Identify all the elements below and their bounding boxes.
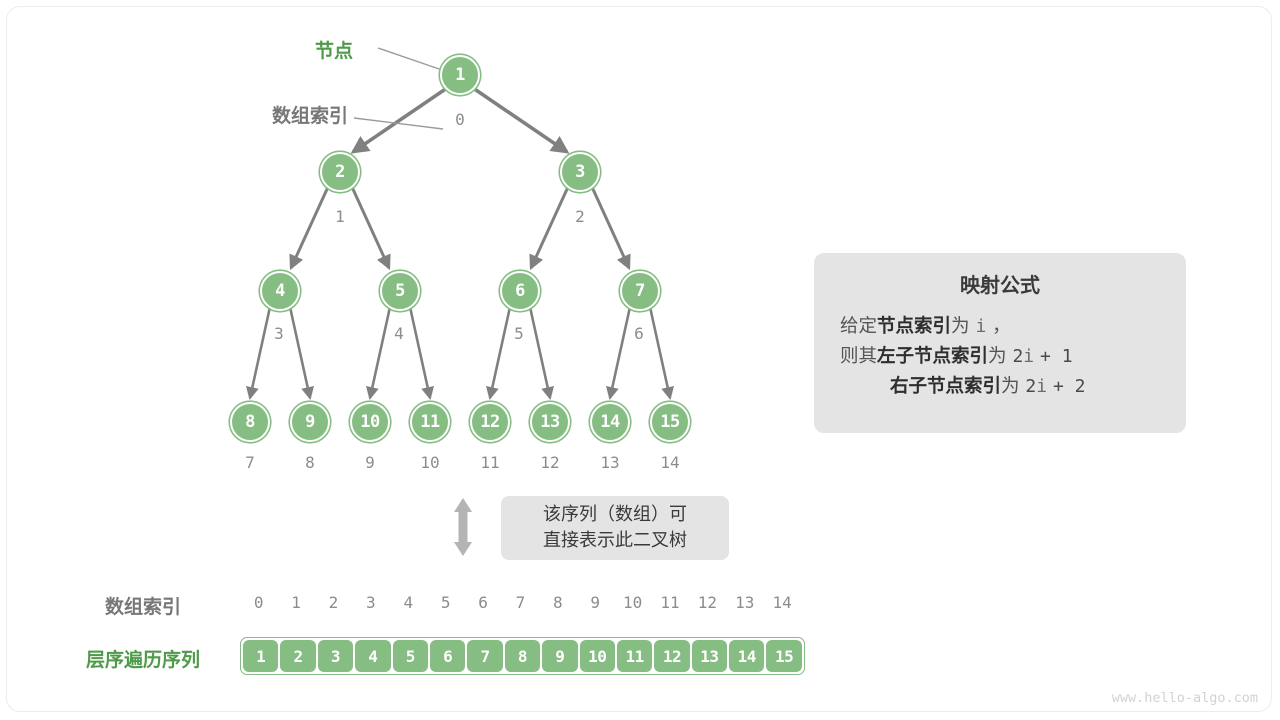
formula-right-bold: 右子节点索引	[890, 376, 1001, 397]
array-index-cell: 6	[464, 593, 501, 612]
array-value-cell[interactable]: 7	[467, 640, 502, 672]
array-value-cell[interactable]: 5	[393, 640, 428, 672]
formula-right-coeff: 2	[1025, 376, 1036, 397]
tree-index-8: 8	[290, 453, 330, 472]
edge-group-level-1	[291, 187, 629, 268]
tree-node-3[interactable]: 3	[560, 152, 600, 192]
tree-index-11: 11	[470, 453, 510, 472]
array-index-cell: 13	[726, 593, 763, 612]
tree-node-11[interactable]: 11	[410, 402, 450, 442]
tree-index-3: 3	[259, 324, 299, 343]
formula-title: 映射公式	[814, 269, 1186, 298]
formula-given-bold: 节点索引	[877, 316, 951, 337]
array-value-cell[interactable]: 15	[766, 640, 801, 672]
tree-index-7: 7	[230, 453, 270, 472]
tree-index-14: 14	[650, 453, 690, 472]
array-index-cell: 2	[315, 593, 352, 612]
array-index-cell: 4	[390, 593, 427, 612]
formula-var-i: i	[975, 316, 986, 337]
callout-leader-lines	[354, 48, 443, 129]
array-index-row-label: 数组索引	[105, 592, 181, 619]
array-value-cell[interactable]: 4	[355, 640, 390, 672]
array-value-cell[interactable]: 11	[617, 640, 652, 672]
array-value-cell[interactable]: 6	[430, 640, 465, 672]
tree-index-2: 2	[560, 207, 600, 226]
tree-index-13: 13	[590, 453, 630, 472]
tree-node-7[interactable]: 7	[620, 271, 660, 311]
formula-left-bold: 左子节点索引	[877, 346, 988, 367]
array-value-cell[interactable]: 1	[243, 640, 278, 672]
formula-right-var-i: i	[1036, 376, 1047, 397]
formula-given-mid: 为	[951, 316, 970, 337]
tree-node-12[interactable]: 12	[470, 402, 510, 442]
formula-left-prefix: 则其	[840, 346, 877, 367]
array-index-cell: 10	[614, 593, 651, 612]
formula-line-left-child: 则其左子节点索引为 2i + 1	[814, 342, 1186, 372]
tree-node-2[interactable]: 2	[320, 152, 360, 192]
tree-node-6[interactable]: 6	[500, 271, 540, 311]
level-order-row-label: 层序遍历序列	[86, 645, 200, 672]
formula-given-prefix: 给定	[840, 316, 877, 337]
tree-index-5: 5	[499, 324, 539, 343]
formula-right-offset: + 2	[1053, 376, 1086, 397]
tree-node-15[interactable]: 15	[650, 402, 690, 442]
tree-node-10[interactable]: 10	[350, 402, 390, 442]
array-index-cell: 12	[689, 593, 726, 612]
tree-index-0: 0	[440, 110, 480, 129]
formula-left-offset: + 1	[1040, 346, 1073, 367]
tree-index-9: 9	[350, 453, 390, 472]
tree-index-12: 12	[530, 453, 570, 472]
edge-group-level-2	[250, 307, 670, 398]
array-index-cell: 14	[763, 593, 800, 612]
tree-node-8[interactable]: 8	[230, 402, 270, 442]
formula-right-mid: 为	[1001, 376, 1020, 397]
site-watermark: www.hello-algo.com	[1112, 690, 1258, 706]
formula-left-mid: 为	[988, 346, 1007, 367]
array-index-row: 0 1 2 3 4 5 6 7 8 9 10 11 12 13 14	[240, 593, 801, 612]
note-line-1: 该序列（数组）可	[543, 502, 687, 528]
tree-node-4[interactable]: 4	[260, 271, 300, 311]
array-index-cell: 7	[502, 593, 539, 612]
array-value-cell[interactable]: 13	[692, 640, 727, 672]
array-index-cell: 0	[240, 593, 277, 612]
sequence-note-box: 该序列（数组）可 直接表示此二叉树	[501, 496, 729, 560]
note-line-2: 直接表示此二叉树	[543, 528, 687, 554]
diagram-canvas: 节点 数组索引 1 0 2 3 1 2 4 5 6 7 3 4 5 6 8 9 …	[0, 0, 1280, 720]
mapping-formula-box: 映射公式 给定节点索引为 i ， 则其左子节点索引为 2i + 1 右子节点索引…	[814, 253, 1186, 433]
formula-left-coeff: 2	[1012, 346, 1023, 367]
tree-index-6: 6	[619, 324, 659, 343]
tree-node-14[interactable]: 14	[590, 402, 630, 442]
tree-index-10: 10	[410, 453, 450, 472]
level-order-array: 1 2 3 4 5 6 7 8 9 10 11 12 13 14 15	[240, 637, 805, 675]
formula-left-var-i: i	[1023, 346, 1034, 367]
tree-node-9[interactable]: 9	[290, 402, 330, 442]
array-value-cell[interactable]: 10	[580, 640, 615, 672]
array-value-cell[interactable]: 8	[505, 640, 540, 672]
tree-node-1[interactable]: 1	[440, 55, 480, 95]
formula-line-given: 给定节点索引为 i ，	[814, 312, 1186, 342]
formula-line-right-child: 右子节点索引为 2i + 2	[814, 372, 1186, 402]
tree-index-4: 4	[379, 324, 419, 343]
array-index-cell: 1	[277, 593, 314, 612]
array-index-cell: 9	[577, 593, 614, 612]
tree-node-13[interactable]: 13	[530, 402, 570, 442]
array-value-cell[interactable]: 3	[318, 640, 353, 672]
array-index-cell: 8	[539, 593, 576, 612]
vertical-double-arrow	[454, 498, 472, 556]
tree-index-1: 1	[320, 207, 360, 226]
array-index-cell: 3	[352, 593, 389, 612]
array-index-cell: 5	[427, 593, 464, 612]
array-value-cell[interactable]: 2	[280, 640, 315, 672]
array-value-cell[interactable]: 14	[729, 640, 764, 672]
array-value-cell[interactable]: 12	[654, 640, 689, 672]
array-index-cell: 11	[651, 593, 688, 612]
formula-given-suffix: ，	[992, 316, 1011, 337]
callout-array-index-label: 数组索引	[272, 101, 348, 128]
callout-node-label: 节点	[315, 36, 353, 63]
array-value-cell[interactable]: 9	[542, 640, 577, 672]
tree-node-5[interactable]: 5	[380, 271, 420, 311]
